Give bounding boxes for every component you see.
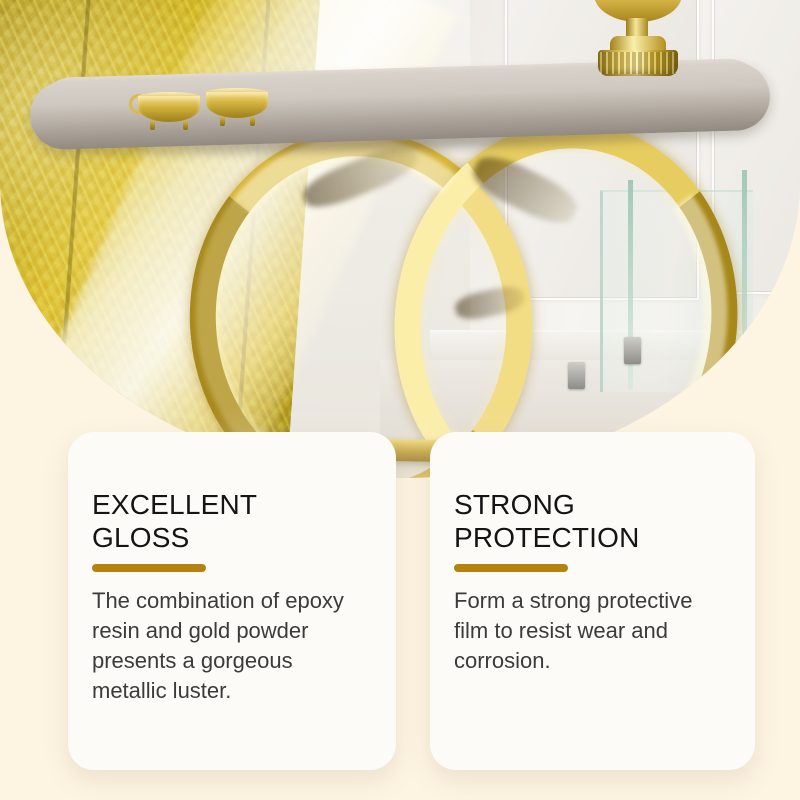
feature-card-body: Form a strong protective film to resist … (454, 586, 727, 676)
feature-card-title-line-2: GLOSS (92, 522, 189, 553)
hero-photo-image (0, 0, 800, 478)
feature-card-title-line-1: EXCELLENT (92, 489, 257, 520)
brass-bowl-foot (250, 117, 255, 126)
brass-bowl-foot (150, 121, 155, 130)
hero-photo (0, 0, 800, 478)
brass-bowl-foot (183, 121, 188, 130)
feature-card-excellent-gloss: EXCELLENTGLOSS The combination of epoxy … (68, 432, 396, 770)
feature-card-accent-rule (92, 564, 206, 572)
feature-card-strong-protection: STRONGPROTECTION Form a strong protectiv… (430, 432, 755, 770)
gold-ornament-fluting (600, 52, 676, 74)
feature-card-accent-rule (454, 564, 568, 572)
feature-banner: EXCELLENTGLOSS The combination of epoxy … (0, 0, 800, 800)
brass-bowl-foot (220, 117, 225, 126)
feature-card-title-line-2: PROTECTION (454, 522, 640, 553)
feature-card-title-line-1: STRONG (454, 489, 575, 520)
feature-card-title: STRONGPROTECTION (454, 488, 727, 554)
feature-card-body: The combination of epoxy resin and gold … (92, 586, 368, 706)
feature-card-title: EXCELLENTGLOSS (92, 488, 368, 554)
